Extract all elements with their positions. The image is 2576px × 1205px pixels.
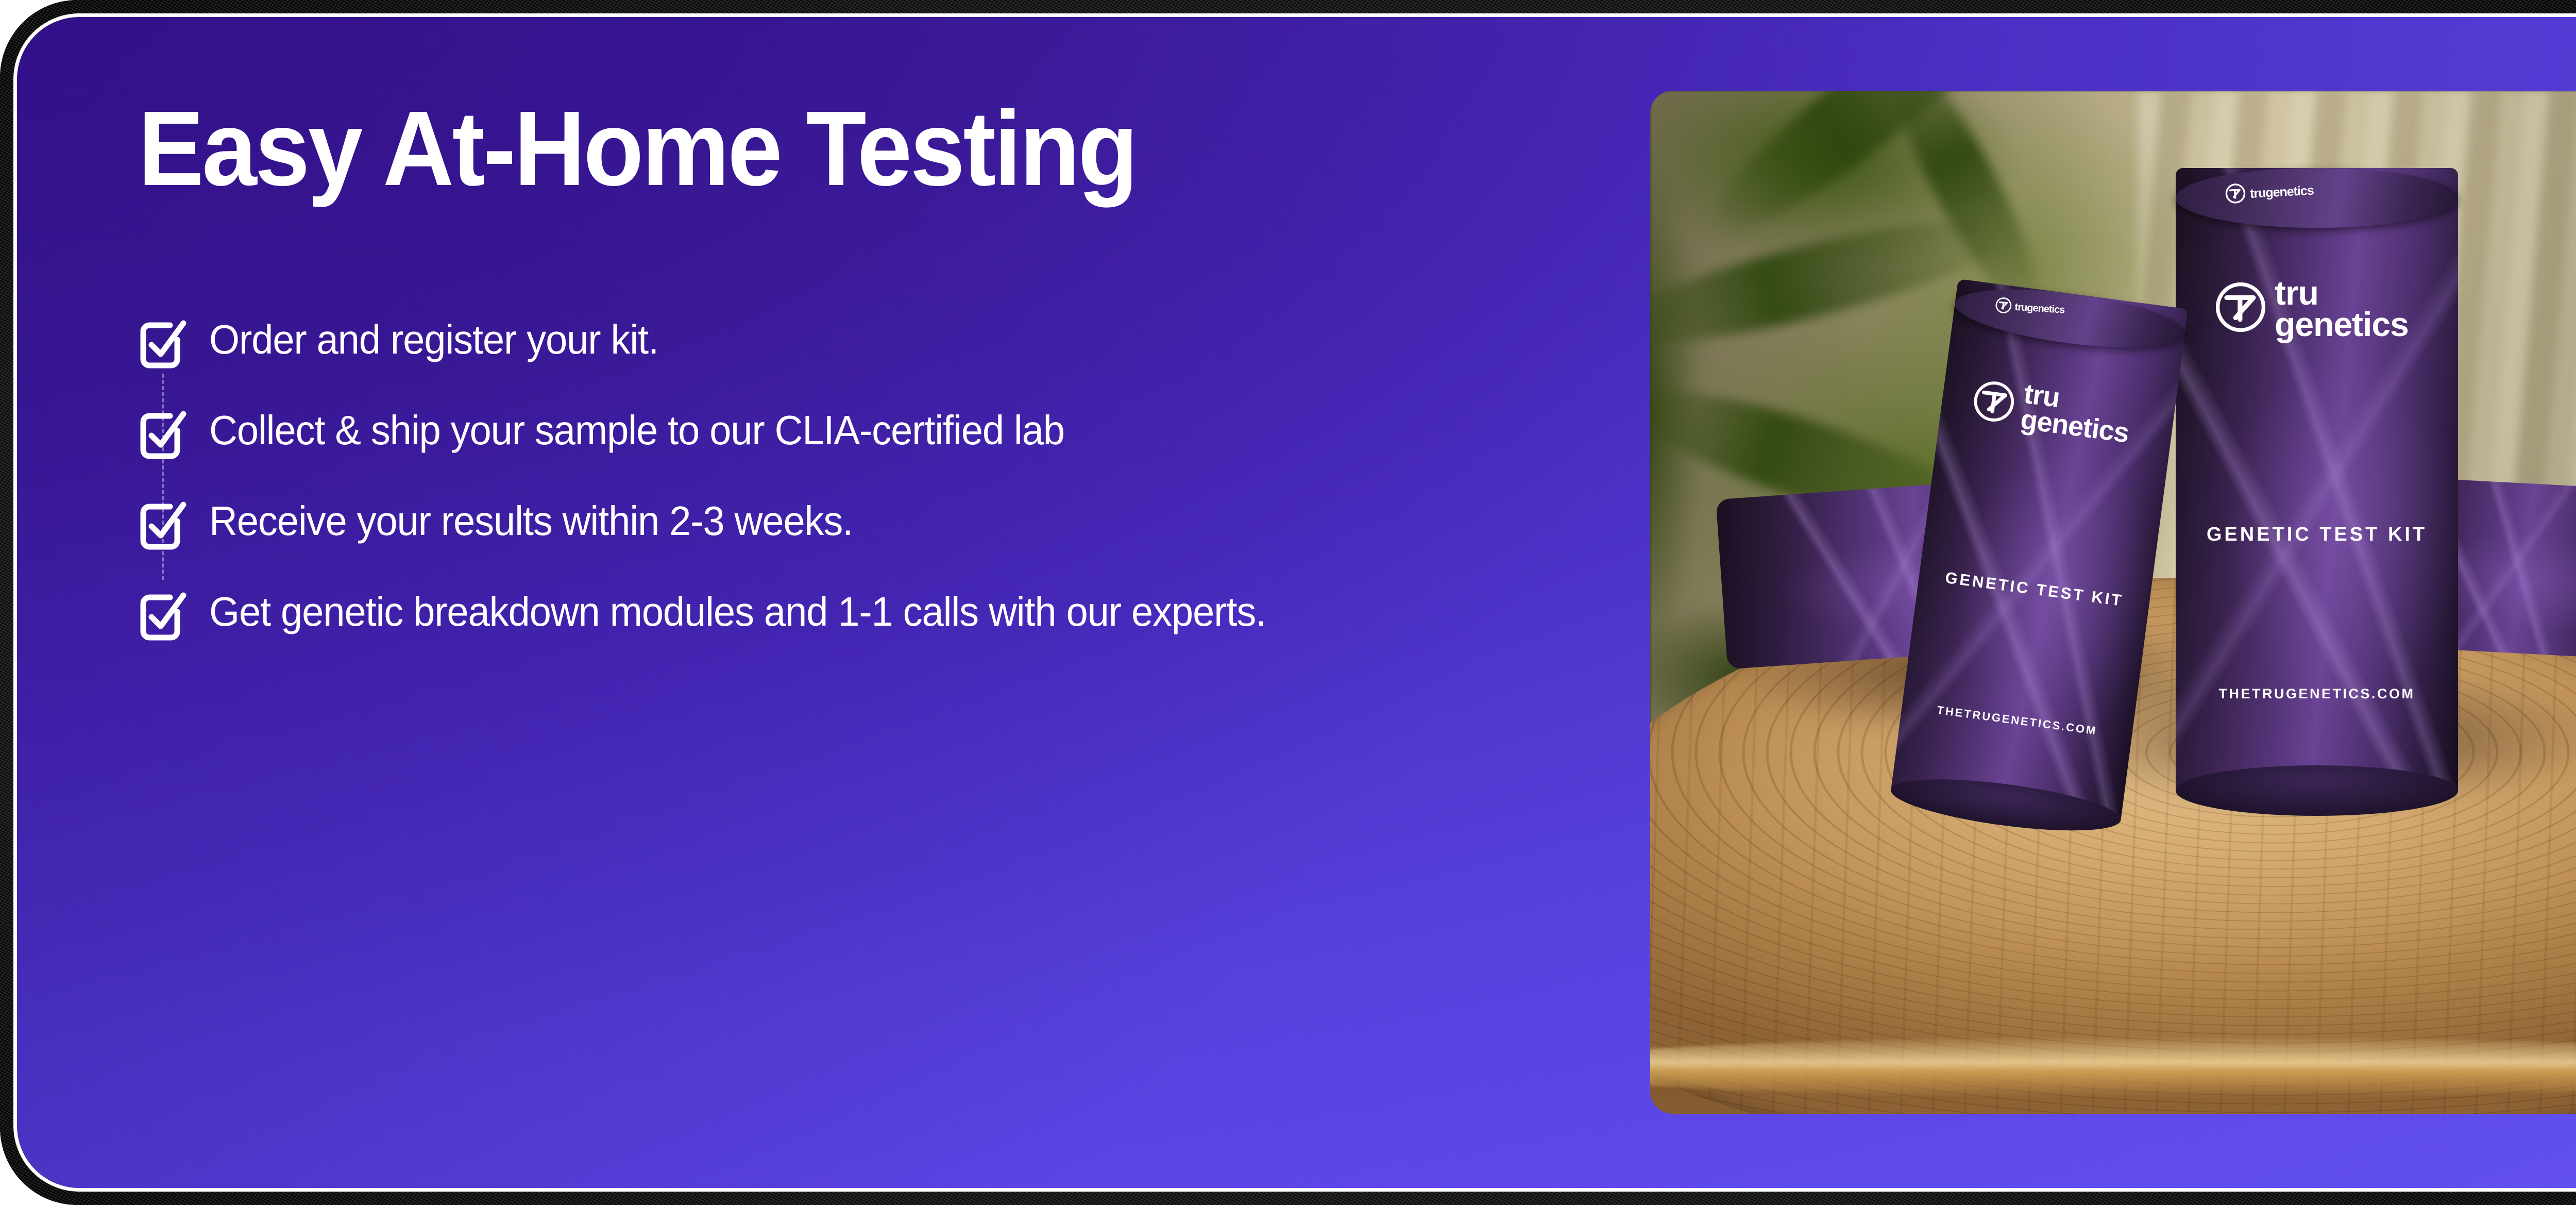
page-title: Easy At-Home Testing bbox=[138, 94, 1422, 203]
list-item-label: Collect & ship your sample to our CLIA-c… bbox=[209, 404, 1064, 457]
trugenetics-logo-icon bbox=[2225, 182, 2246, 207]
trugenetics-logo-icon bbox=[1995, 297, 2012, 317]
brand-line-2: genetics bbox=[2275, 309, 2409, 340]
product-photo: trugenetics tru genetics GENET bbox=[1650, 91, 2576, 1114]
list-item: Get genetic breakdown modules and 1-1 ca… bbox=[138, 585, 1519, 641]
table-brass-band bbox=[1650, 1036, 2576, 1098]
tube-cap-brand-label: trugenetics bbox=[2014, 302, 2065, 316]
list-item-label: Get genetic breakdown modules and 1-1 ca… bbox=[209, 585, 1266, 639]
trugenetics-logo-icon bbox=[2214, 280, 2267, 337]
product-tube-back-right: trugenetics tru genetics GENET bbox=[2176, 168, 2458, 797]
list-item: Order and register your kit. bbox=[138, 313, 1519, 369]
tube-cap-brand-label: trugenetics bbox=[2249, 183, 2314, 202]
promo-card: Easy At-Home Testing Order and register … bbox=[17, 17, 2576, 1188]
left-content-column: Easy At-Home Testing Order and register … bbox=[138, 94, 1519, 641]
list-item: Receive your results within 2-3 weeks. bbox=[138, 494, 1519, 550]
list-item-label: Order and register your kit. bbox=[209, 313, 658, 366]
tube-brand-lockup: tru genetics bbox=[2214, 277, 2409, 340]
checkbox-checked-icon bbox=[138, 319, 185, 369]
checkbox-checked-icon bbox=[138, 410, 185, 459]
tube-cap-brand: trugenetics bbox=[2225, 179, 2314, 207]
list-item-label: Receive your results within 2-3 weeks. bbox=[209, 494, 853, 548]
checkbox-checked-icon bbox=[138, 500, 185, 550]
tube-swirl-pattern bbox=[2176, 168, 2458, 797]
tube-body bbox=[2176, 168, 2458, 797]
steps-checklist: Order and register your kit. Collect & s… bbox=[138, 313, 1519, 641]
list-item: Collect & ship your sample to our CLIA-c… bbox=[138, 404, 1519, 459]
outer-frame: Easy At-Home Testing Order and register … bbox=[0, 0, 2576, 1205]
tube-cap bbox=[2176, 168, 2458, 228]
tube-base bbox=[2176, 765, 2458, 816]
trugenetics-logo-icon bbox=[1970, 377, 2019, 428]
tube-url-label: THETRUGENETICS.COM bbox=[2176, 686, 2458, 702]
tube-brand-text: tru genetics bbox=[2275, 277, 2409, 340]
tube-kit-label: GENETIC TEST KIT bbox=[2176, 524, 2458, 546]
brand-line-1: tru bbox=[2275, 277, 2409, 309]
checkbox-checked-icon bbox=[138, 591, 185, 641]
